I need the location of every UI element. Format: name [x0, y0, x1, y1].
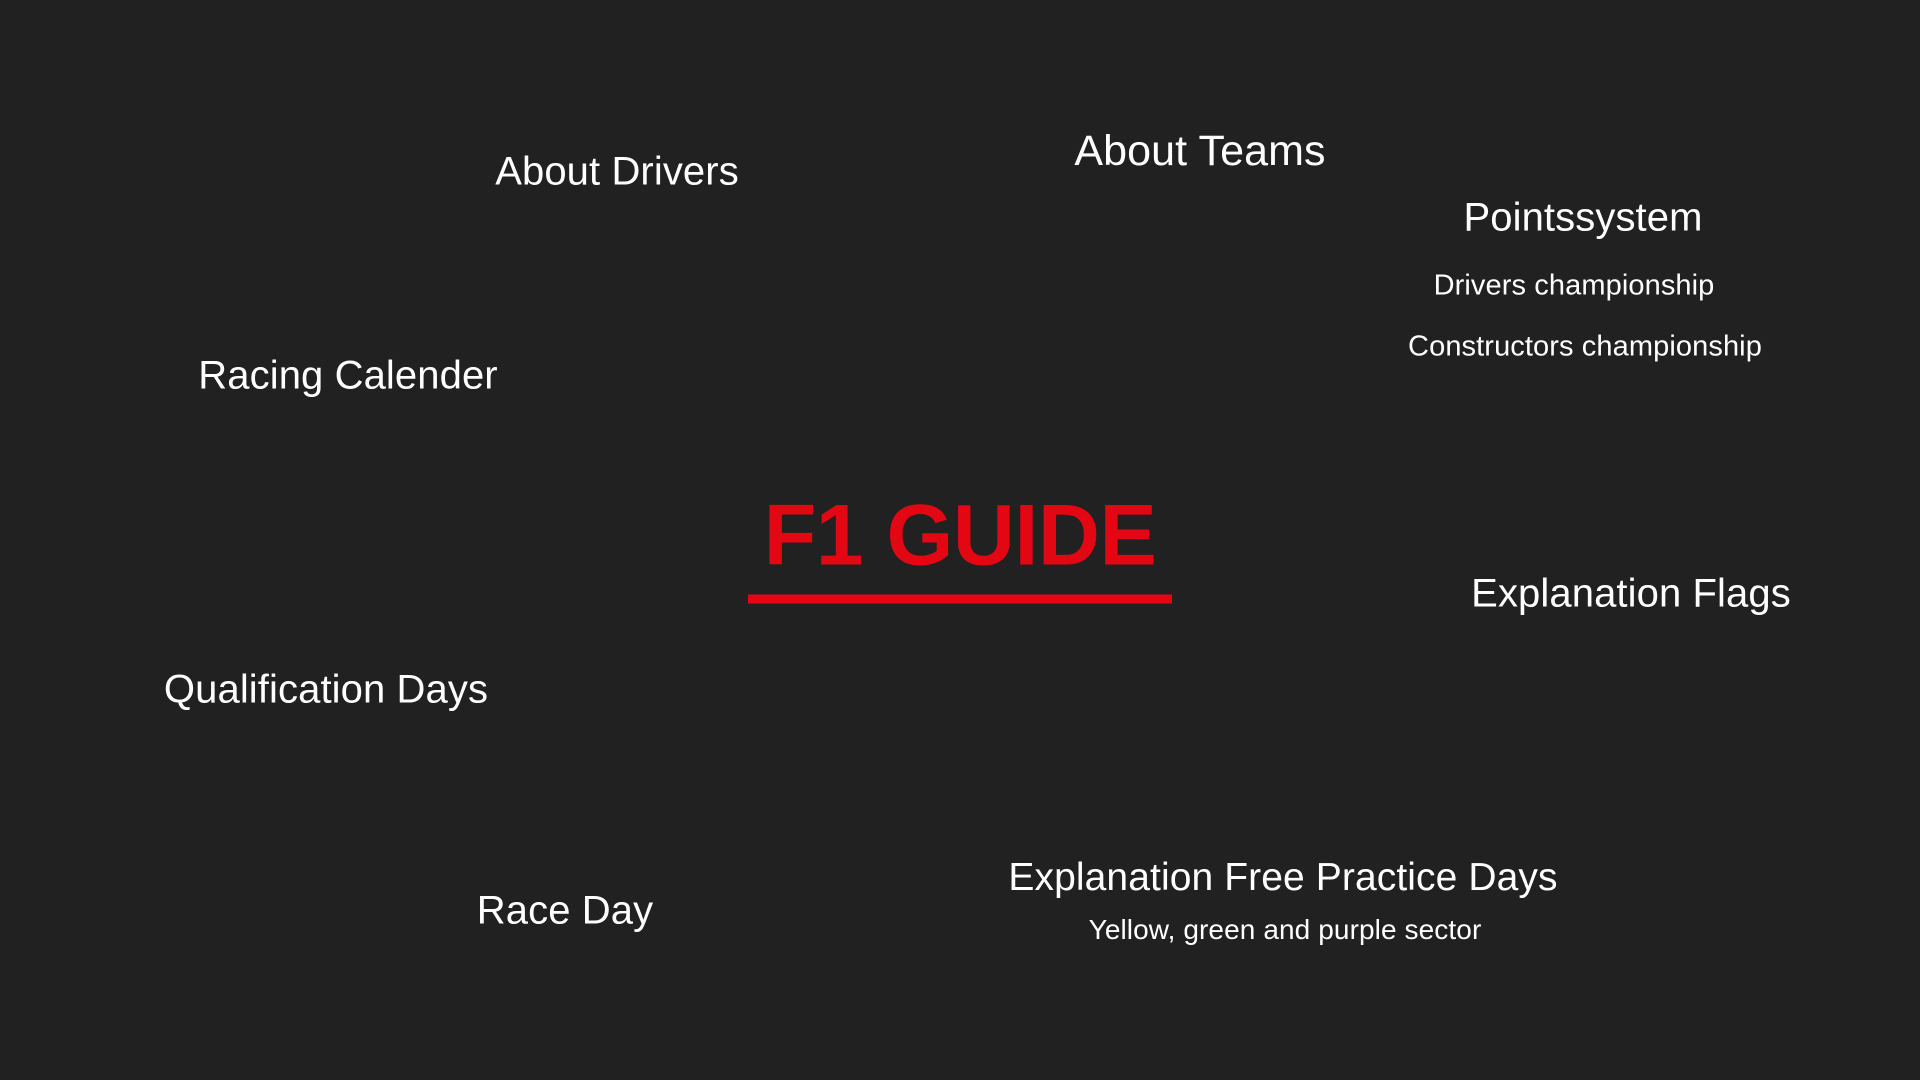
topic-about-drivers[interactable]: About Drivers — [495, 150, 739, 193]
topic-explanation-free-practice-days[interactable]: Explanation Free Practice Days — [1008, 857, 1557, 899]
topic-race-day[interactable]: Race Day — [477, 889, 653, 932]
topic-qualification-days[interactable]: Qualification Days — [164, 668, 488, 711]
title-underline — [748, 595, 1172, 604]
slide-canvas: About Drivers About Teams Pointssystem D… — [0, 0, 1920, 1080]
topic-pointssystem[interactable]: Pointssystem — [1463, 196, 1702, 239]
subtopic-constructors-championship[interactable]: Constructors championship — [1408, 331, 1762, 362]
brand-title-block: F1 GUIDE — [748, 493, 1172, 604]
topic-about-teams[interactable]: About Teams — [1074, 128, 1325, 174]
topic-racing-calender[interactable]: Racing Calender — [198, 354, 497, 397]
page-title: F1 GUIDE — [748, 493, 1172, 579]
topic-explanation-flags[interactable]: Explanation Flags — [1471, 572, 1791, 615]
subtopic-drivers-championship[interactable]: Drivers championship — [1434, 270, 1715, 301]
subtopic-sector-colors[interactable]: Yellow, green and purple sector — [1089, 915, 1482, 945]
